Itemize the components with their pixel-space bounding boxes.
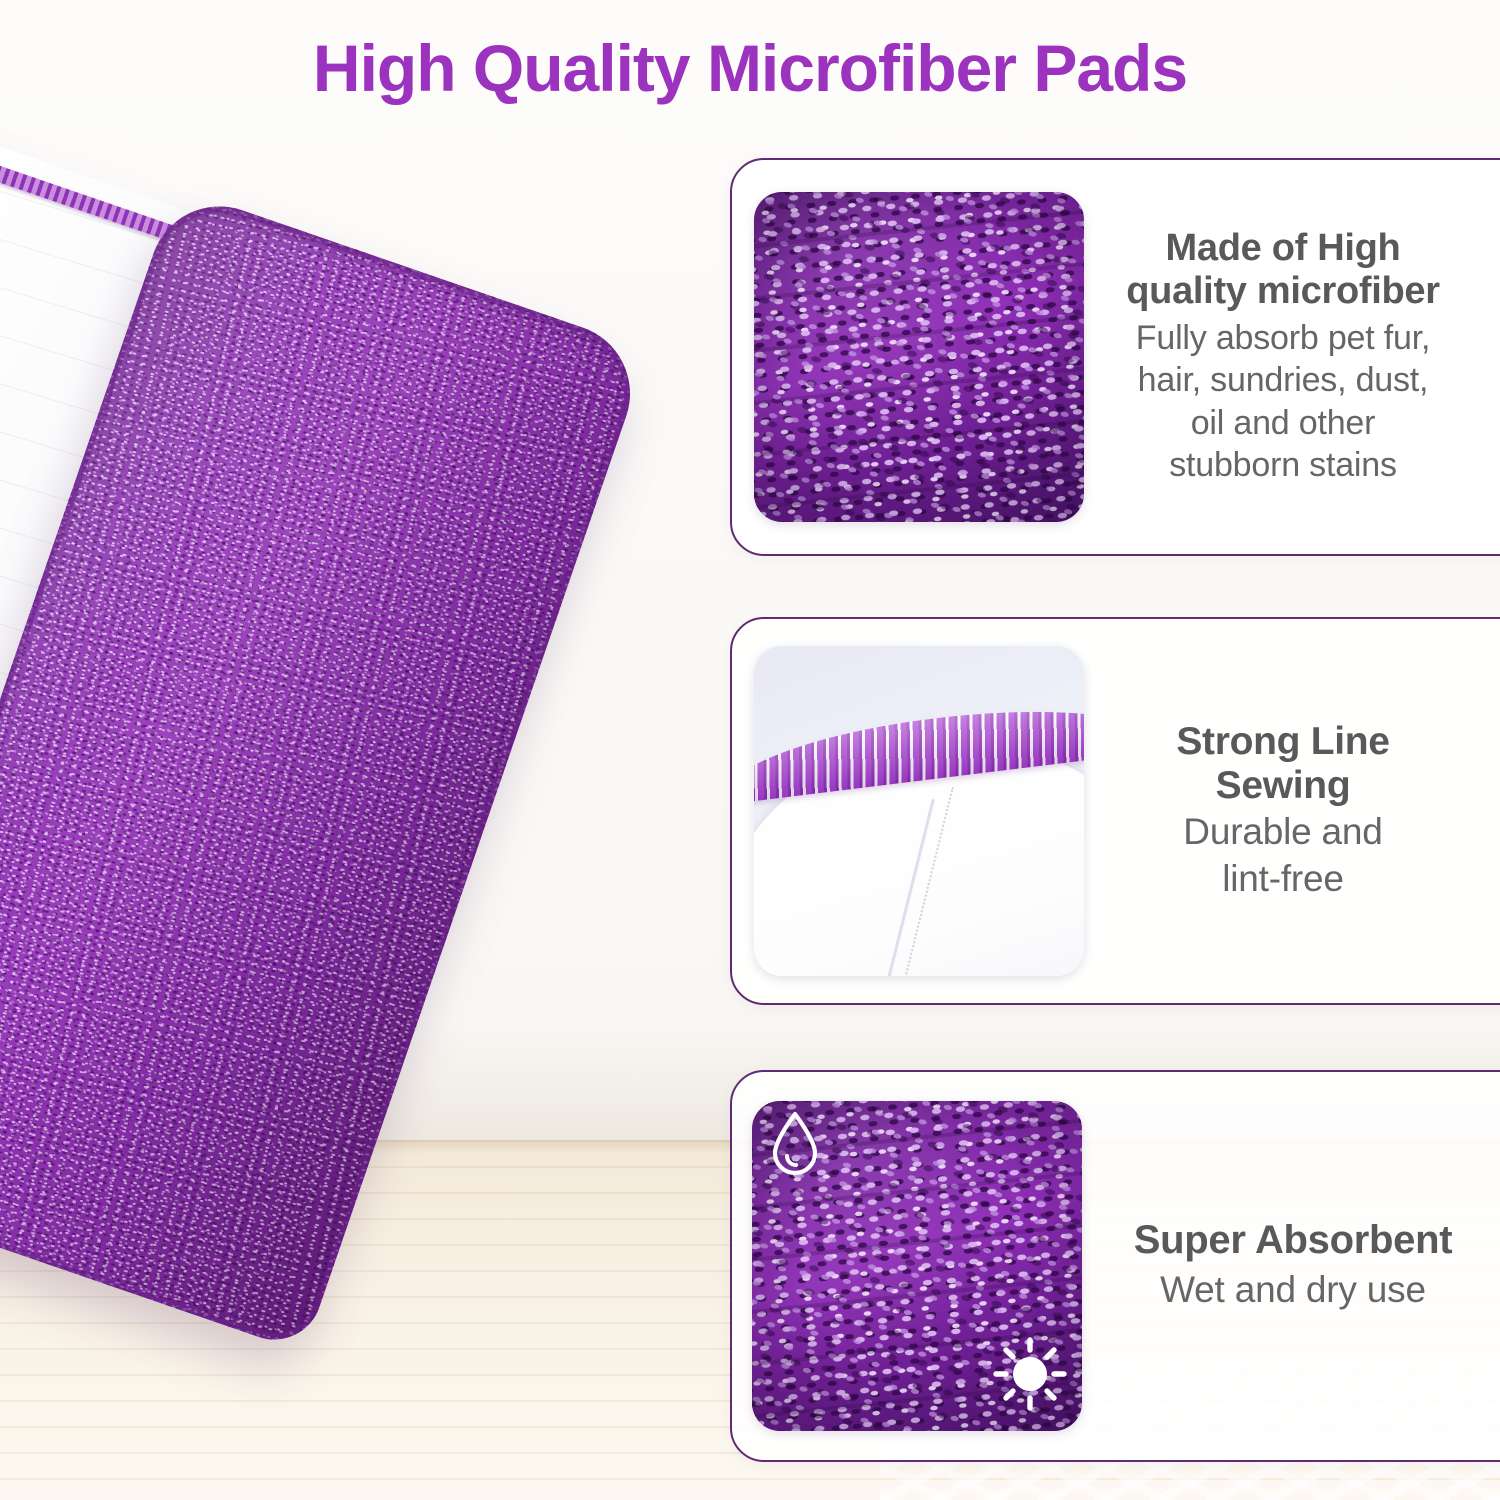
sun-icon bbox=[992, 1336, 1068, 1417]
feature-image-microfiber-closeup bbox=[752, 1101, 1082, 1431]
feature-card-super-absorbent: Super Absorbent Wet and dry use bbox=[730, 1070, 1500, 1462]
feature-text-block: Made of High quality microfiber Fully ab… bbox=[1084, 227, 1490, 486]
feature-card-made-of-high-quality-microfiber: Made of High quality microfiber Fully ab… bbox=[730, 158, 1500, 556]
image-vignette bbox=[754, 192, 1084, 522]
feature-body: Fully absorb pet fur, hair, sundries, du… bbox=[1110, 317, 1456, 487]
feature-body-line: Durable and bbox=[1110, 809, 1456, 855]
feature-text-block: Super Absorbent Wet and dry use bbox=[1082, 1218, 1500, 1313]
page-title: High Quality Microfiber Pads bbox=[0, 30, 1500, 106]
feature-heading-line: Made of High bbox=[1110, 227, 1456, 270]
feature-image-microfiber-closeup bbox=[754, 192, 1084, 522]
feature-heading: Super Absorbent bbox=[1092, 1218, 1494, 1263]
feature-body-line: oil and other bbox=[1110, 402, 1456, 445]
feature-heading: Made of High quality microfiber bbox=[1110, 227, 1456, 312]
feature-image-sewn-edge-closeup bbox=[754, 646, 1084, 976]
water-drop-icon bbox=[768, 1109, 822, 1182]
feature-body: Durable and lint-free bbox=[1110, 809, 1456, 902]
feature-card-strong-line-sewing: Strong Line Sewing Durable and lint-free bbox=[730, 617, 1500, 1005]
feature-heading-line: Sewing bbox=[1110, 764, 1456, 808]
feature-heading-line: quality microfiber bbox=[1110, 270, 1456, 313]
feature-body: Wet and dry use bbox=[1092, 1267, 1494, 1313]
feature-body-line: Fully absorb pet fur, bbox=[1110, 317, 1456, 360]
feature-heading-line: Strong Line bbox=[1110, 720, 1456, 764]
feature-heading: Strong Line Sewing bbox=[1110, 720, 1456, 807]
feature-text-block: Strong Line Sewing Durable and lint-free bbox=[1084, 720, 1490, 902]
feature-body-line: Wet and dry use bbox=[1092, 1267, 1494, 1313]
feature-body-line: hair, sundries, dust, bbox=[1110, 359, 1456, 402]
feature-body-line: lint-free bbox=[1110, 856, 1456, 902]
feature-heading-line: Super Absorbent bbox=[1092, 1218, 1494, 1263]
feature-body-line: stubborn stains bbox=[1110, 444, 1456, 487]
